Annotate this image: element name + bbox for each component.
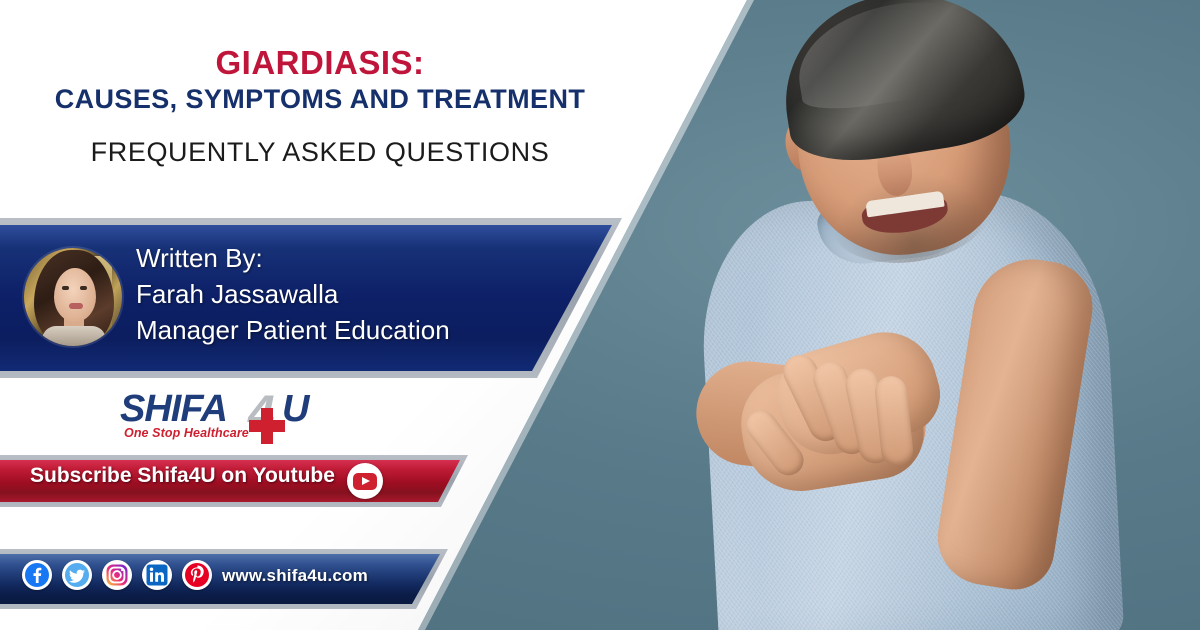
brand-logo[interactable]: SHIFA 4 U One Stop Healthcare (120, 386, 335, 444)
youtube-play-glyph (353, 473, 377, 490)
page-title: GIARDIASIS: CAUSES, SYMPTOMS AND TREATME… (0, 46, 640, 167)
poster-canvas: GIARDIASIS: CAUSES, SYMPTOMS AND TREATME… (0, 0, 1200, 630)
brand-tagline: One Stop Healthcare (124, 426, 249, 440)
facebook-icon[interactable] (22, 560, 52, 590)
social-links (22, 560, 212, 590)
author-written-by-label: Written By: (136, 240, 556, 276)
website-url[interactable]: www.shifa4u.com (222, 566, 368, 586)
hero-photo-man-stomach-pain (600, 0, 1200, 630)
pinterest-icon[interactable] (182, 560, 212, 590)
headline-section: FREQUENTLY ASKED QUESTIONS (0, 139, 640, 167)
brand-logo-suffix: U (282, 388, 309, 431)
headline-subtitle: CAUSES, SYMPTOMS AND TREATMENT (0, 86, 640, 114)
avatar (24, 248, 122, 346)
medical-cross-icon-bar (249, 420, 285, 432)
author-role: Manager Patient Education (136, 312, 556, 348)
author-name: Farah Jassawalla (136, 276, 556, 312)
linkedin-icon[interactable] (142, 560, 172, 590)
subscribe-label: Subscribe Shifa4U on Youtube (30, 464, 335, 488)
brand-logo-text: SHIFA (120, 388, 227, 431)
youtube-icon[interactable] (347, 463, 383, 499)
twitter-icon[interactable] (62, 560, 92, 590)
instagram-icon[interactable] (102, 560, 132, 590)
author-details: Written By: Farah Jassawalla Manager Pat… (136, 240, 556, 348)
headline-title: GIARDIASIS: (0, 46, 640, 80)
